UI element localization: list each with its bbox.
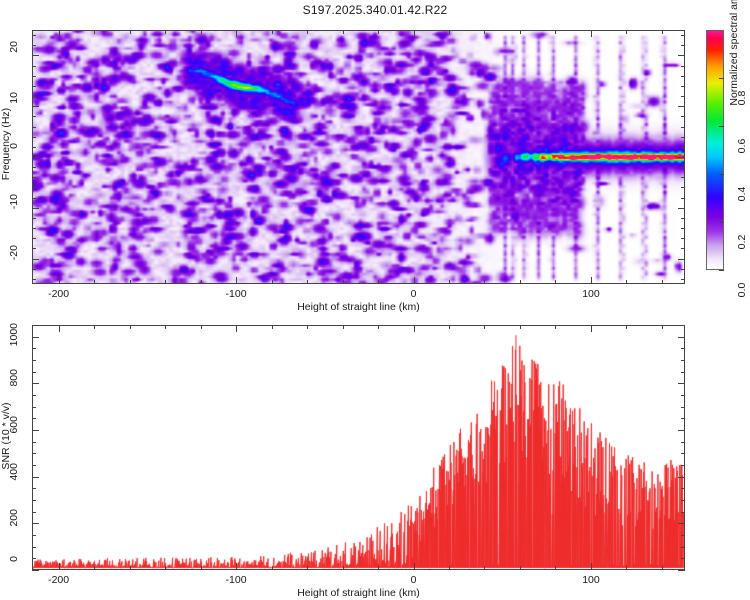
x-major-tick-top xyxy=(414,325,415,332)
colorbar: Normalized spectral amplitude 0.00.20.40… xyxy=(706,30,750,274)
x-minor-tick-top xyxy=(343,30,344,34)
x-minor-tick xyxy=(307,566,308,570)
x-minor-tick xyxy=(662,280,663,284)
y-minor-tick-right xyxy=(681,45,685,46)
y-minor-tick-right xyxy=(681,535,685,536)
y-minor-tick xyxy=(32,453,36,454)
x-minor-tick xyxy=(272,280,273,284)
x-tick-label: 0 xyxy=(384,288,444,300)
x-major-tick-top xyxy=(414,30,415,37)
spectrogram-panel: Frequency (Hz) Height of straight line (… xyxy=(0,18,750,308)
y-major-tick-right xyxy=(678,55,685,56)
x-minor-tick xyxy=(343,566,344,570)
x-major-tick-top xyxy=(591,325,592,332)
snr-x-axis-title: Height of straight line (km) xyxy=(32,587,685,599)
x-minor-tick-top xyxy=(165,30,166,34)
y-minor-tick xyxy=(32,279,36,280)
y-tick-label: -10 xyxy=(0,194,34,222)
figure-root: S197.2025.340.01.42.R22 Frequency (Hz) H… xyxy=(0,0,750,600)
y-minor-tick xyxy=(32,147,36,148)
y-minor-tick xyxy=(32,66,36,67)
y-minor-tick xyxy=(32,488,36,489)
y-minor-tick-right xyxy=(681,116,685,117)
x-tick-label: -100 xyxy=(206,288,266,300)
x-minor-tick-top xyxy=(626,325,627,329)
y-minor-tick-right xyxy=(681,488,685,489)
x-minor-tick-top xyxy=(555,325,556,329)
snr-canvas xyxy=(33,326,684,569)
x-minor-tick xyxy=(484,280,485,284)
y-tick-label: 0 xyxy=(0,556,34,584)
y-major-tick-right xyxy=(678,106,685,107)
y-minor-tick xyxy=(32,269,36,270)
colorbar-tick-label: 0.4 xyxy=(722,174,750,214)
x-minor-tick xyxy=(94,280,95,284)
spectrogram-canvas xyxy=(33,31,684,283)
x-minor-tick xyxy=(272,566,273,570)
x-minor-tick xyxy=(626,280,627,284)
y-minor-tick xyxy=(32,137,36,138)
x-minor-tick xyxy=(520,280,521,284)
x-minor-tick xyxy=(201,280,202,284)
x-tick-label: -200 xyxy=(29,574,89,586)
y-major-tick-right xyxy=(678,570,685,571)
y-minor-tick xyxy=(32,407,36,408)
snr-panel: SNR (10 * v/v) Height of straight line (… xyxy=(0,315,750,600)
x-minor-tick xyxy=(626,566,627,570)
x-minor-tick-top xyxy=(555,30,556,34)
y-minor-tick xyxy=(32,558,36,559)
y-tick-label: 10 xyxy=(0,92,34,120)
y-minor-tick-right xyxy=(681,453,685,454)
y-minor-tick xyxy=(32,228,36,229)
spectrogram-x-axis-title: Height of straight line (km) xyxy=(32,301,685,313)
x-minor-tick xyxy=(555,280,556,284)
colorbar-tick-label: 0.6 xyxy=(722,126,750,166)
y-minor-tick-right xyxy=(681,177,685,178)
y-minor-tick xyxy=(32,116,36,117)
y-tick-label: -20 xyxy=(0,245,34,273)
y-major-tick-right xyxy=(678,157,685,158)
x-minor-tick xyxy=(94,566,95,570)
spectrogram-plot-area xyxy=(32,30,685,284)
y-minor-tick-right xyxy=(681,167,685,168)
x-tick-label: -100 xyxy=(206,574,266,586)
y-major-tick-right xyxy=(678,208,685,209)
y-minor-tick xyxy=(32,465,36,466)
x-minor-tick-top xyxy=(484,30,485,34)
y-minor-tick-right xyxy=(681,35,685,36)
x-minor-tick-top xyxy=(94,325,95,329)
y-major-tick-right xyxy=(678,430,685,431)
y-minor-tick xyxy=(32,248,36,249)
y-minor-tick-right xyxy=(681,86,685,87)
colorbar-tick-label: 0.2 xyxy=(722,222,750,262)
x-minor-tick xyxy=(555,566,556,570)
y-tick-label: 0 xyxy=(0,143,34,171)
y-minor-tick xyxy=(32,500,36,501)
x-minor-tick-top xyxy=(307,325,308,329)
y-minor-tick-right xyxy=(681,395,685,396)
x-minor-tick-top xyxy=(201,30,202,34)
y-minor-tick-right xyxy=(681,500,685,501)
y-minor-tick xyxy=(32,372,36,373)
x-minor-tick xyxy=(484,566,485,570)
y-major-tick-right xyxy=(678,259,685,260)
y-minor-tick-right xyxy=(681,248,685,249)
y-minor-tick xyxy=(32,218,36,219)
y-tick-label: 400 xyxy=(0,463,34,491)
x-minor-tick xyxy=(130,566,131,570)
y-minor-tick-right xyxy=(681,442,685,443)
y-minor-tick-right xyxy=(681,76,685,77)
y-minor-tick xyxy=(32,418,36,419)
x-minor-tick-top xyxy=(662,325,663,329)
x-minor-tick-top xyxy=(378,30,379,34)
y-minor-tick xyxy=(32,442,36,443)
x-minor-tick-top xyxy=(520,30,521,34)
y-minor-tick xyxy=(32,76,36,77)
y-tick-label: 1000 xyxy=(0,323,34,351)
x-major-tick xyxy=(414,277,415,284)
x-minor-tick-top xyxy=(449,30,450,34)
y-minor-tick-right xyxy=(681,147,685,148)
y-minor-tick xyxy=(32,395,36,396)
x-tick-label: -200 xyxy=(29,288,89,300)
x-minor-tick xyxy=(662,566,663,570)
x-minor-tick-top xyxy=(626,30,627,34)
x-major-tick-top xyxy=(236,325,237,332)
y-minor-tick xyxy=(32,325,36,326)
y-minor-tick-right xyxy=(681,198,685,199)
y-minor-tick xyxy=(32,127,36,128)
x-minor-tick-top xyxy=(201,325,202,329)
x-minor-tick-top xyxy=(307,30,308,34)
x-minor-tick-top xyxy=(272,30,273,34)
x-minor-tick xyxy=(378,280,379,284)
colorbar-tick-label: 0.8 xyxy=(722,78,750,118)
y-minor-tick-right xyxy=(681,228,685,229)
x-minor-tick xyxy=(378,566,379,570)
x-minor-tick xyxy=(449,566,450,570)
x-minor-tick-top xyxy=(484,325,485,329)
y-major-tick-right xyxy=(678,337,685,338)
y-minor-tick-right xyxy=(681,558,685,559)
x-minor-tick-top xyxy=(520,325,521,329)
x-major-tick xyxy=(591,563,592,570)
y-minor-tick-right xyxy=(681,407,685,408)
y-minor-tick xyxy=(32,35,36,36)
y-minor-tick-right xyxy=(681,238,685,239)
y-minor-tick-right xyxy=(681,279,685,280)
y-minor-tick xyxy=(32,167,36,168)
y-minor-tick xyxy=(32,177,36,178)
x-minor-tick xyxy=(343,280,344,284)
y-minor-tick-right xyxy=(681,418,685,419)
x-minor-tick-top xyxy=(130,30,131,34)
y-minor-tick xyxy=(32,96,36,97)
x-minor-tick xyxy=(165,280,166,284)
y-minor-tick xyxy=(32,360,36,361)
x-minor-tick-top xyxy=(94,30,95,34)
x-major-tick-top xyxy=(591,30,592,37)
x-major-tick xyxy=(59,563,60,570)
y-minor-tick-right xyxy=(681,465,685,466)
x-minor-tick-top xyxy=(662,30,663,34)
x-minor-tick-top xyxy=(130,325,131,329)
y-minor-tick xyxy=(32,86,36,87)
y-tick-label: 20 xyxy=(0,41,34,69)
y-minor-tick xyxy=(32,512,36,513)
x-major-tick-top xyxy=(59,30,60,37)
x-major-tick xyxy=(59,277,60,284)
x-minor-tick xyxy=(449,280,450,284)
y-minor-tick xyxy=(32,348,36,349)
x-minor-tick xyxy=(520,566,521,570)
y-minor-tick-right xyxy=(681,348,685,349)
x-minor-tick xyxy=(165,566,166,570)
x-minor-tick-top xyxy=(449,325,450,329)
y-minor-tick xyxy=(32,535,36,536)
x-minor-tick-top xyxy=(343,325,344,329)
x-tick-label: 0 xyxy=(384,574,444,586)
snr-plot-area xyxy=(32,325,685,570)
y-tick-label: 600 xyxy=(0,416,34,444)
page-title: S197.2025.340.01.42.R22 xyxy=(0,3,750,17)
y-minor-tick-right xyxy=(681,325,685,326)
y-minor-tick-right xyxy=(681,360,685,361)
x-tick-label: 100 xyxy=(561,288,621,300)
y-minor-tick xyxy=(32,198,36,199)
colorbar-tick-label: 0.0 xyxy=(722,270,750,310)
y-tick-label: 800 xyxy=(0,369,34,397)
y-minor-tick-right xyxy=(681,96,685,97)
x-major-tick-top xyxy=(59,325,60,332)
y-major-tick-right xyxy=(678,523,685,524)
x-minor-tick-top xyxy=(378,325,379,329)
x-major-tick xyxy=(414,563,415,570)
y-minor-tick xyxy=(32,238,36,239)
x-minor-tick xyxy=(307,280,308,284)
y-minor-tick-right xyxy=(681,137,685,138)
y-minor-tick xyxy=(32,547,36,548)
y-minor-tick-right xyxy=(681,269,685,270)
y-tick-label: 200 xyxy=(0,509,34,537)
x-minor-tick xyxy=(201,566,202,570)
y-minor-tick-right xyxy=(681,187,685,188)
y-minor-tick-right xyxy=(681,372,685,373)
x-tick-label: 100 xyxy=(561,574,621,586)
y-major-tick-right xyxy=(678,477,685,478)
y-minor-tick-right xyxy=(681,547,685,548)
y-major-tick-right xyxy=(678,383,685,384)
x-major-tick xyxy=(236,563,237,570)
x-minor-tick-top xyxy=(272,325,273,329)
y-minor-tick-right xyxy=(681,218,685,219)
x-major-tick xyxy=(591,277,592,284)
x-minor-tick xyxy=(130,280,131,284)
x-major-tick xyxy=(236,277,237,284)
x-major-tick-top xyxy=(236,30,237,37)
y-minor-tick-right xyxy=(681,127,685,128)
x-minor-tick-top xyxy=(165,325,166,329)
y-minor-tick xyxy=(32,45,36,46)
y-minor-tick xyxy=(32,187,36,188)
y-minor-tick-right xyxy=(681,512,685,513)
y-minor-tick-right xyxy=(681,66,685,67)
